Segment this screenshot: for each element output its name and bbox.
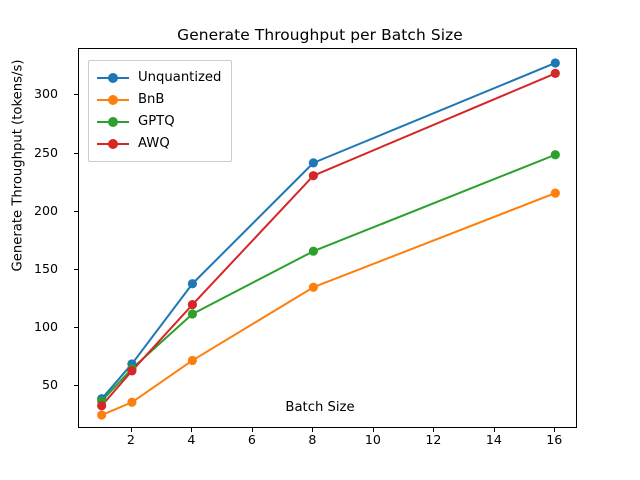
data-point-marker (551, 188, 560, 197)
legend-item-label: Unquantized (138, 71, 221, 85)
y-tick-label: 250 (0, 147, 58, 160)
legend-marker-icon (97, 115, 129, 129)
y-tick-label: 50 (0, 379, 58, 392)
y-tick-mark (74, 327, 78, 328)
data-point-marker (551, 58, 560, 67)
data-point-marker (188, 309, 197, 318)
legend-item-label: GPTQ (138, 115, 175, 129)
legend-item: GPTQ (97, 111, 221, 133)
x-tick-label: 2 (111, 434, 151, 447)
data-point-marker (309, 283, 318, 292)
legend-marker-icon (97, 71, 129, 85)
x-tick-label: 14 (474, 434, 514, 447)
data-point-marker (551, 69, 560, 78)
data-point-marker (309, 247, 318, 256)
y-tick-mark (74, 94, 78, 95)
chart-legend: Unquantized BnB GPTQ AWQ (88, 60, 232, 162)
x-axis-label: Batch Size (0, 400, 640, 415)
data-point-marker (127, 366, 136, 375)
series-line (102, 193, 556, 415)
legend-item: Unquantized (97, 67, 221, 89)
y-axis-label: Generate Throughput (tokens/s) (11, 0, 26, 356)
x-tick-label: 16 (534, 434, 574, 447)
data-point-marker (188, 356, 197, 365)
x-tick-label: 10 (353, 434, 393, 447)
series-line (102, 155, 556, 401)
data-point-marker (309, 158, 318, 167)
legend-marker-icon (97, 137, 129, 151)
x-tick-label: 6 (232, 434, 272, 447)
chart-figure: Generate Throughput per Batch Size Gener… (0, 0, 640, 480)
y-tick-mark (74, 385, 78, 386)
legend-item-label: BnB (138, 93, 164, 107)
legend-marker-icon (97, 93, 129, 107)
data-point-marker (188, 300, 197, 309)
y-tick-mark (74, 211, 78, 212)
y-tick-label: 100 (0, 321, 58, 334)
y-tick-label: 150 (0, 263, 58, 276)
y-tick-label: 200 (0, 205, 58, 218)
x-tick-label: 12 (413, 434, 453, 447)
y-tick-mark (74, 153, 78, 154)
legend-item: AWQ (97, 133, 221, 155)
data-point-marker (551, 150, 560, 159)
legend-item: BnB (97, 89, 221, 111)
chart-title: Generate Throughput per Batch Size (0, 26, 640, 44)
legend-item-label: AWQ (138, 137, 170, 151)
x-tick-label: 4 (171, 434, 211, 447)
y-tick-label: 300 (0, 88, 58, 101)
data-point-marker (188, 279, 197, 288)
data-point-marker (309, 171, 318, 180)
x-tick-label: 8 (292, 434, 332, 447)
y-tick-mark (74, 269, 78, 270)
